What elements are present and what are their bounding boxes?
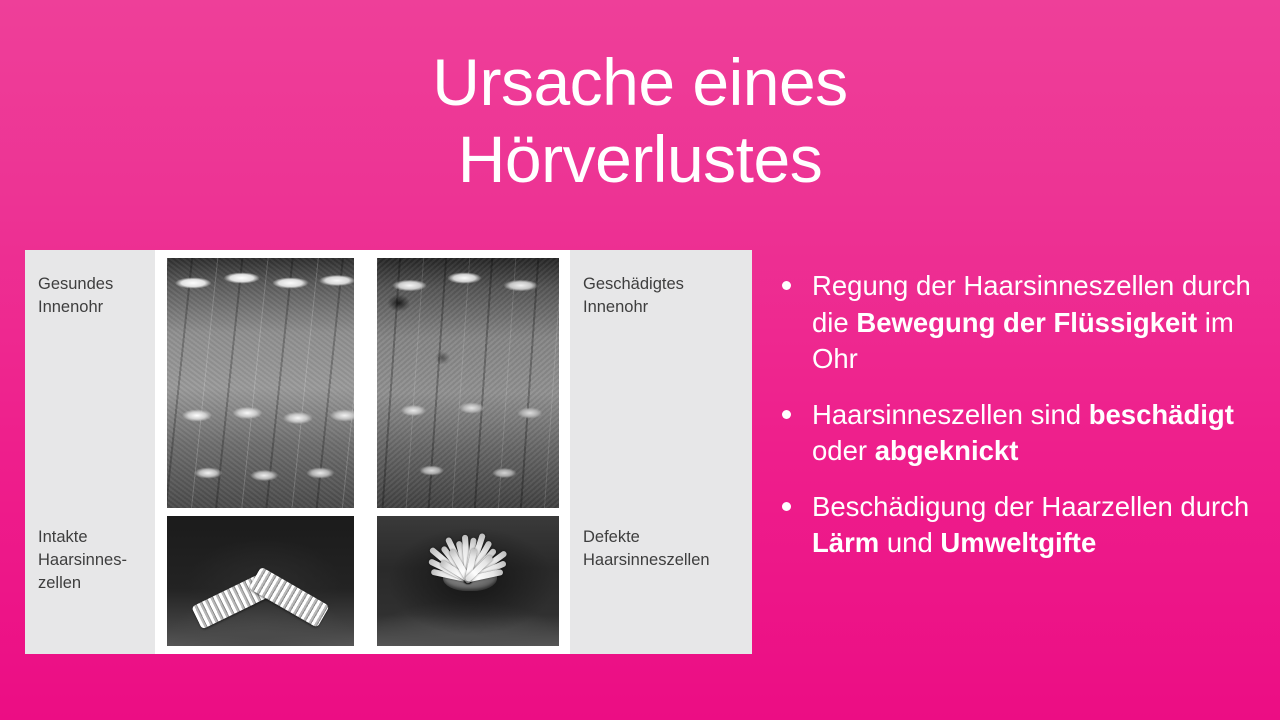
- image-healthy-organ-of-corti: [167, 258, 354, 508]
- bullet-dot-icon: [782, 410, 791, 419]
- image-defective-stereocilia: [377, 516, 559, 646]
- page-title: Ursache eines Hörverlustes: [64, 44, 1216, 197]
- sem-healthy-texture: [167, 258, 354, 508]
- bullet-item: Regung der Haarsinneszellen durch die Be…: [782, 268, 1264, 378]
- label-defective-hair-cells: Defekte Haarsinneszellen: [583, 526, 710, 572]
- image-intact-stereocilia: [167, 516, 354, 646]
- bullet-text: Beschädigung der Haarzellen durch Lärm u…: [812, 489, 1264, 562]
- label-intact-hair-cells: Intakte Haarsinnes- zellen: [38, 526, 127, 594]
- figure-right-label-column: Geschädigtes Innenohr Defekte Haarsinnes…: [570, 250, 752, 654]
- figure-panel: Gesundes Innenohr Intakte Haarsinnes- ze…: [25, 250, 752, 654]
- figure-right-image-column: [365, 250, 570, 654]
- bullet-item: Beschädigung der Haarzellen durch Lärm u…: [782, 489, 1264, 562]
- image-damaged-organ-of-corti: [377, 258, 559, 508]
- bullet-text: Regung der Haarsinneszellen durch die Be…: [812, 268, 1264, 378]
- bullet-dot-icon: [782, 281, 791, 290]
- sem-damaged-bundle-texture: [377, 516, 559, 646]
- label-healthy-inner-ear: Gesundes Innenohr: [38, 273, 113, 319]
- sem-damaged-texture: [377, 258, 559, 508]
- label-damaged-inner-ear: Geschädigtes Innenohr: [583, 273, 684, 319]
- sem-intact-bundle-texture: [167, 516, 354, 646]
- figure-left-image-column: [155, 250, 365, 654]
- bullet-item: Haarsinneszellen sind beschädigt oder ab…: [782, 397, 1264, 470]
- bullet-text: Haarsinneszellen sind beschädigt oder ab…: [812, 397, 1264, 470]
- bullet-list: Regung der Haarsinneszellen durch die Be…: [782, 268, 1264, 581]
- figure-left-label-column: Gesundes Innenohr Intakte Haarsinnes- ze…: [25, 250, 155, 654]
- bullet-dot-icon: [782, 502, 791, 511]
